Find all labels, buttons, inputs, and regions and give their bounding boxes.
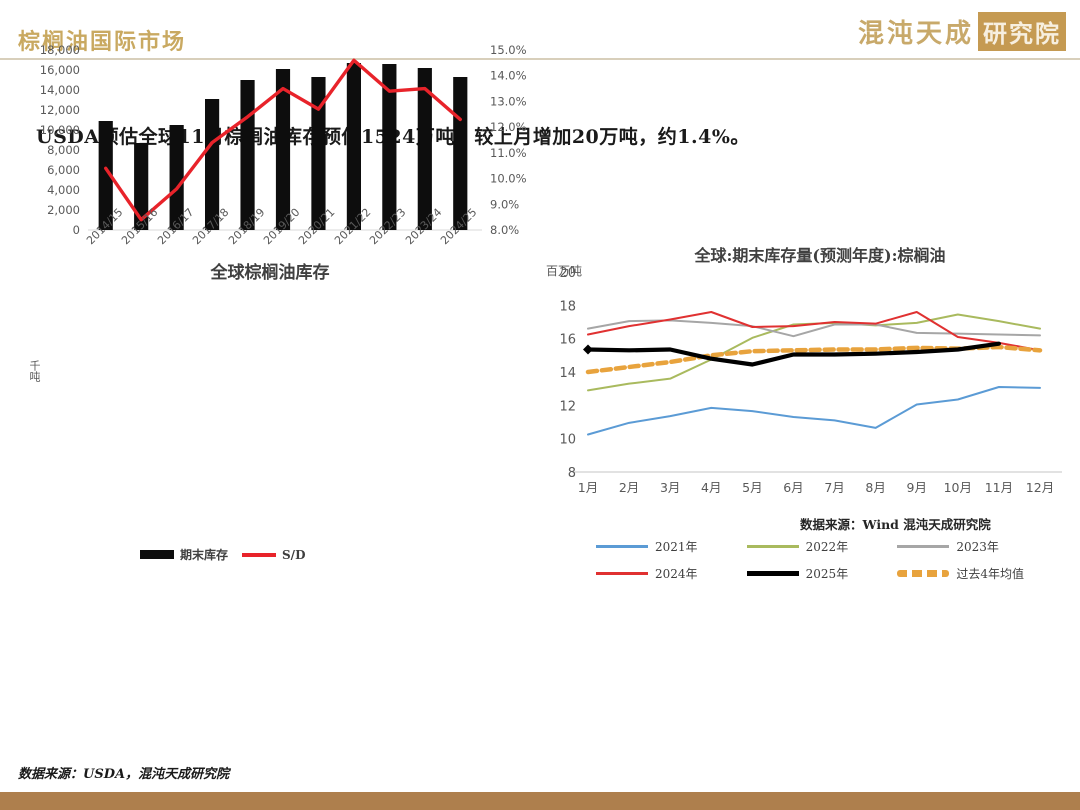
bar — [347, 63, 361, 230]
company-logo: 混沌天成 研究院 — [858, 10, 1066, 52]
right-chart-source: 数据来源：Wind 混沌天成研究院 — [800, 514, 991, 533]
line-swatch-2025-icon — [747, 571, 799, 576]
bar — [453, 77, 467, 230]
svg-text:4月: 4月 — [701, 480, 721, 495]
left-chart-y-axis-label: 千吨 — [26, 360, 42, 382]
legend-item-2022: 2022年 — [747, 538, 894, 555]
line-swatch-2021-icon — [596, 545, 648, 548]
svg-text:15.0%: 15.0% — [490, 43, 527, 57]
legend-label: 2024年 — [655, 565, 698, 582]
svg-text:7月: 7月 — [824, 480, 844, 495]
line-swatch-2022-icon — [747, 545, 799, 548]
svg-text:10,000: 10,000 — [40, 123, 80, 137]
line-swatch-2024-icon — [596, 572, 648, 575]
left-chart-legend: 期末库存 S/D — [140, 546, 305, 563]
line-swatch-icon — [242, 553, 276, 557]
legend-label: 2022年 — [806, 538, 849, 555]
bar — [240, 80, 254, 230]
legend-item-2023: 2023年 — [897, 538, 1044, 555]
svg-text:9月: 9月 — [907, 480, 927, 495]
footer-source: 数据来源：USDA，混沌天成研究院 — [18, 763, 229, 782]
svg-text:18: 18 — [559, 299, 576, 314]
svg-text:4,000: 4,000 — [47, 183, 80, 197]
left-chart-title: 全球棕榈油库存 — [110, 258, 430, 283]
right-chart-title: 全球:期末库存量(预测年度):棕榈油 — [620, 242, 1020, 266]
right-chart-canvas: 81012141618201月2月3月4月5月6月7月8月9月10月11月12月 — [540, 230, 1080, 520]
svg-text:6月: 6月 — [783, 480, 803, 495]
svg-text:10: 10 — [559, 433, 576, 448]
legend-item-2024: 2024年 — [596, 565, 743, 582]
legend-item-2025: 2025年 — [747, 565, 894, 582]
line-swatch-2023-icon — [897, 545, 949, 548]
svg-text:1月: 1月 — [578, 480, 598, 495]
legend-label: 过去4年均值 — [956, 565, 1024, 582]
svg-text:11月: 11月 — [985, 480, 1013, 495]
svg-text:12.0%: 12.0% — [490, 120, 527, 134]
svg-text:14,000: 14,000 — [40, 83, 80, 97]
svg-text:13.0%: 13.0% — [490, 94, 527, 108]
svg-text:10月: 10月 — [944, 480, 972, 495]
logo-badge: 研究院 — [978, 12, 1066, 51]
svg-text:3月: 3月 — [660, 480, 680, 495]
footer-bar — [0, 792, 1080, 810]
legend-label: 2025年 — [806, 565, 849, 582]
logo-text: 混沌天成 — [858, 13, 974, 50]
legend-label: 期末库存 — [180, 546, 228, 563]
svg-text:8,000: 8,000 — [47, 143, 80, 157]
legend-label: S/D — [282, 548, 305, 562]
svg-text:10.0%: 10.0% — [490, 172, 527, 186]
svg-text:8: 8 — [568, 466, 576, 481]
svg-text:5月: 5月 — [742, 480, 762, 495]
chart-global-ending-stocks: 81012141618201月2月3月4月5月6月7月8月9月10月11月12月 — [540, 230, 1080, 520]
svg-text:12,000: 12,000 — [40, 103, 80, 117]
legend-item-2021: 2021年 — [596, 538, 743, 555]
right-chart-y-axis-label: 百万吨 — [546, 262, 582, 279]
svg-text:8月: 8月 — [865, 480, 885, 495]
series-marker — [583, 345, 593, 355]
legend-label: 2021年 — [655, 538, 698, 555]
svg-text:8.0%: 8.0% — [490, 223, 519, 237]
svg-text:12: 12 — [559, 399, 576, 414]
legend-item-4yr-average: 过去4年均值 — [897, 565, 1044, 582]
svg-text:12月: 12月 — [1026, 480, 1054, 495]
svg-text:14.0%: 14.0% — [490, 69, 527, 83]
right-chart-legend: 2021年 2022年 2023年 2024年 2025年 过去4年均值 — [596, 538, 1044, 582]
legend-label: 2023年 — [956, 538, 999, 555]
svg-text:2,000: 2,000 — [47, 203, 80, 217]
svg-text:2月: 2月 — [619, 480, 639, 495]
svg-text:6,000: 6,000 — [47, 163, 80, 177]
legend-item-sd: S/D — [242, 548, 305, 562]
svg-text:18,000: 18,000 — [40, 43, 80, 57]
svg-text:11.0%: 11.0% — [490, 146, 527, 160]
legend-item-ending-stocks: 期末库存 — [140, 546, 228, 563]
dashed-swatch-average-icon — [897, 570, 949, 577]
svg-text:16: 16 — [559, 333, 576, 348]
svg-text:0: 0 — [73, 223, 80, 237]
series-line — [588, 387, 1040, 435]
svg-text:9.0%: 9.0% — [490, 197, 519, 211]
svg-text:14: 14 — [559, 366, 576, 381]
bar-swatch-icon — [140, 550, 174, 559]
svg-text:16,000: 16,000 — [40, 63, 80, 77]
